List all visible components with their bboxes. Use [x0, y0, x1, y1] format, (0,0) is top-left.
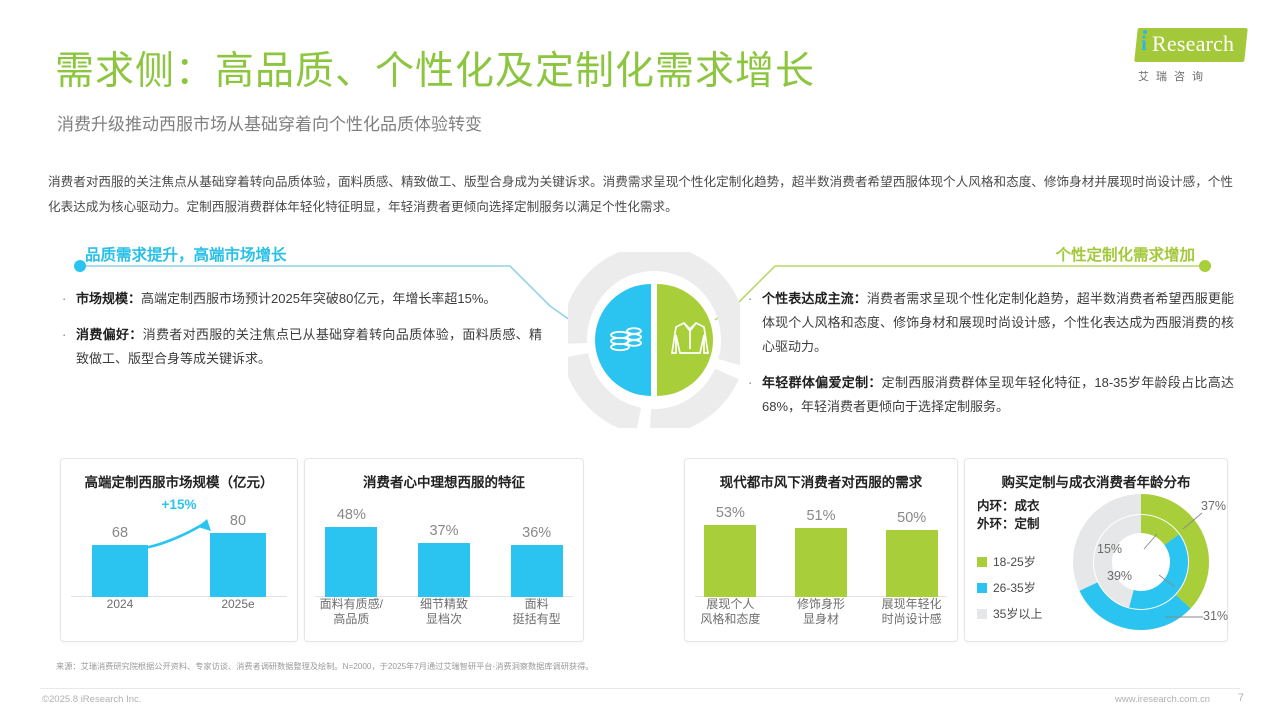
chart-card-urban-demand: 现代都市风下消费者对西服的需求 53% 51% 50% 展现个: [684, 458, 958, 642]
slide-root: i Research 艾瑞咨询 需求侧：高品质、个性化及定制化需求增长 消费升级…: [0, 0, 1280, 720]
bar-item: 36%: [511, 493, 563, 597]
bar-value-label: 80: [230, 513, 246, 529]
donut-callout-inner-blue: 39%: [1107, 569, 1132, 583]
bullet-dot-icon: ·: [62, 287, 76, 311]
bar-category-line: 显身材: [776, 612, 866, 627]
bar-value-label: 51%: [806, 508, 835, 524]
chart-card-market-size: 高端定制西服市场规模（亿元） +15% 68 80 2024 2025: [60, 458, 298, 642]
bar-chart-urban-demand: 53% 51% 50% 展现个人 风格和态度 修饰身形: [685, 495, 957, 627]
bullets-left: · 市场规模：高端定制西服市场预计2025年突破80亿元，年增长率超15%。 ·…: [62, 287, 542, 383]
bar-rect: [210, 533, 266, 597]
bar-category: 2025e: [179, 597, 297, 612]
bar-category: 面料有质感/ 高品质: [305, 597, 397, 627]
chart-card-age-distribution: 购买定制与成衣消费者年龄分布 内环：成衣 外环：定制 18-25岁 26-35岁…: [964, 458, 1228, 642]
bar-item: 51%: [795, 493, 847, 597]
bar-rect: [511, 545, 563, 597]
legend-swatch-icon: [977, 583, 987, 593]
bar-category: 展现年轻化 时尚设计感: [867, 597, 957, 627]
legend-label: 35岁以上: [993, 605, 1042, 622]
logo-i-letter: i: [1141, 33, 1147, 54]
bar-category: 修饰身形 显身材: [776, 597, 866, 627]
bar-item: 50%: [886, 493, 938, 597]
bullet-dot-icon: ·: [62, 323, 76, 371]
bullet-body: 高端定制西服市场预计2025年突破80亿元，年增长率超15%。: [141, 291, 496, 306]
bar-category-line: 挺括有型: [491, 612, 583, 627]
bar-category-labels: 面料有质感/ 高品质 细节精致 显档次 面料 挺括有型: [305, 597, 583, 627]
source-note: 来源：艾瑞消费研究院根据公开资料、专家访谈、消费者调研数据整理及绘制。N=200…: [56, 660, 1206, 672]
bar-category-labels: 2024 2025e: [61, 597, 297, 627]
legend-item: 18-25岁: [977, 553, 1042, 570]
footer-divider: [40, 688, 1240, 689]
logo-chinese-name: 艾瑞咨询: [1138, 68, 1210, 84]
donut-outer-ring: [1061, 487, 1221, 637]
bar-category: 细节精致 显档次: [398, 597, 490, 627]
bullet-text: 市场规模：高端定制西服市场预计2025年突破80亿元，年增长率超15%。: [76, 287, 542, 311]
bar-category-labels: 展现个人 风格和态度 修饰身形 显身材 展现年轻化 时尚设计感: [685, 597, 957, 627]
bar-series: 53% 51% 50%: [685, 493, 957, 597]
page-title: 需求侧：高品质、个性化及定制化需求增长: [55, 40, 815, 96]
bar-category-line: 显档次: [398, 612, 490, 627]
donut-callout-inner-green: 15%: [1097, 542, 1122, 556]
donut-legend: 18-25岁 26-35岁 35岁以上: [977, 553, 1042, 631]
copyright-text: ©2025.8 iResearch Inc.: [42, 694, 141, 705]
chart-title: 高端定制西服市场规模（亿元）: [61, 471, 297, 491]
legend-label: 26-35岁: [993, 579, 1036, 596]
bar-value-label: 50%: [897, 510, 926, 526]
bar-category-line: 面料: [491, 597, 583, 612]
bullet-label: 市场规模：: [76, 291, 141, 306]
bar-item: 53%: [704, 493, 756, 597]
bar-category-line: 展现年轻化: [867, 597, 957, 612]
bar-value-label: 53%: [716, 505, 745, 521]
chart-title: 现代都市风下消费者对西服的需求: [685, 471, 957, 491]
iresearch-logo: i Research 艾瑞咨询: [1130, 26, 1250, 90]
center-emblem: [568, 252, 740, 428]
bullet-label: 消费偏好：: [76, 327, 143, 342]
bullet-label: 年轻群体偏爱定制：: [762, 375, 882, 390]
bullet-dot-icon: ·: [748, 371, 762, 419]
bar-series: 48% 37% 36%: [305, 493, 583, 597]
bar-category-line: 面料有质感/: [305, 597, 397, 612]
legend-label: 18-25岁: [993, 553, 1036, 570]
bar-chart-ideal-features: 48% 37% 36% 面料有质感/ 高品质 细节精致: [305, 495, 583, 627]
bar-rect: [325, 527, 377, 597]
website-text: www.iresearch.com.cn: [1115, 694, 1210, 705]
outer-ring-note: 外环：定制: [977, 515, 1040, 533]
bullet-item: · 市场规模：高端定制西服市场预计2025年突破80亿元，年增长率超15%。: [62, 287, 542, 311]
bullet-item: · 消费偏好：消费者对西服的关注焦点已从基础穿着转向品质体验，面料质感、精致做工…: [62, 323, 542, 371]
logo-wordmark: Research: [1152, 31, 1234, 57]
bar-chart-market-size: +15% 68 80 2024 2025e: [61, 495, 297, 627]
donut-callout-outer-blue: 31%: [1203, 609, 1228, 623]
legend-swatch-icon: [977, 557, 987, 567]
bar-item: 80: [210, 493, 266, 597]
bar-category-line: 展现个人: [685, 597, 775, 612]
bullet-text: 年轻群体偏爱定制：定制西服消费群体呈现年轻化特征，18-35岁年龄段占比高达68…: [762, 371, 1234, 419]
donut-ring-note: 内环：成衣 外环：定制: [977, 497, 1040, 533]
emblem-left-half: [595, 284, 651, 396]
page-subtitle: 消费升级推动西服市场从基础穿着向个性化品质体验转变: [57, 110, 482, 135]
bullet-item: · 年轻群体偏爱定制：定制西服消费群体呈现年轻化特征，18-35岁年龄段占比高达…: [748, 371, 1234, 419]
bar-category: 面料 挺括有型: [491, 597, 583, 627]
bar-category: 2024: [61, 597, 179, 612]
bar-category-line: 细节精致: [398, 597, 490, 612]
page-number: 7: [1238, 692, 1244, 704]
bar-item: 48%: [325, 493, 377, 597]
bar-value-label: 68: [112, 525, 128, 541]
chart-card-ideal-features: 消费者心中理想西服的特征 48% 37% 36% 面料有质感/: [304, 458, 584, 642]
bar-category-line: 风格和态度: [685, 612, 775, 627]
bullet-label: 个性表达成主流：: [762, 291, 867, 306]
bar-rect: [704, 525, 756, 597]
inner-ring-note: 内环：成衣: [977, 497, 1040, 515]
bar-category-line: 高品质: [305, 612, 397, 627]
bar-value-label: 37%: [429, 523, 458, 539]
donut-callout-outer-green: 37%: [1201, 499, 1226, 513]
bullet-dot-icon: ·: [748, 287, 762, 359]
bar-rect: [418, 543, 470, 597]
bar-rect: [795, 528, 847, 597]
bar-category-line: 修饰身形: [776, 597, 866, 612]
bullet-text: 消费偏好：消费者对西服的关注焦点已从基础穿着转向品质体验，面料质感、精致做工、版…: [76, 323, 542, 371]
bullet-text: 个性表达成主流：消费者需求呈现个性化定制化趋势，超半数消费者希望西服更能体现个人…: [762, 287, 1234, 359]
bar-rect: [886, 530, 938, 597]
donut-chart: 37% 15% 39% 31%: [1061, 487, 1221, 637]
legend-item: 35岁以上: [977, 605, 1042, 622]
chart-title: 消费者心中理想西服的特征: [305, 471, 583, 491]
legend-item: 26-35岁: [977, 579, 1042, 596]
lead-paragraph: 消费者对西服的关注焦点从基础穿着转向品质体验，面料质感、精致做工、版型合身成为关…: [48, 170, 1233, 220]
bar-item: 37%: [418, 493, 470, 597]
bar-category: 展现个人 风格和态度: [685, 597, 775, 627]
bullet-body: 消费者对西服的关注焦点已从基础穿着转向品质体验，面料质感、精致做工、版型合身等成…: [76, 327, 542, 366]
logo-mark: i Research: [1130, 26, 1248, 66]
legend-swatch-icon: [977, 609, 987, 619]
bullet-item: · 个性表达成主流：消费者需求呈现个性化定制化趋势，超半数消费者希望西服更能体现…: [748, 287, 1234, 359]
bar-series: 68 80: [61, 493, 297, 597]
bar-value-label: 48%: [337, 507, 366, 523]
bullets-right: · 个性表达成主流：消费者需求呈现个性化定制化趋势，超半数消费者希望西服更能体现…: [748, 287, 1234, 431]
bar-rect: [92, 545, 148, 597]
bar-value-label: 36%: [522, 525, 551, 541]
bar-item: 68: [92, 493, 148, 597]
bar-category-line: 时尚设计感: [867, 612, 957, 627]
